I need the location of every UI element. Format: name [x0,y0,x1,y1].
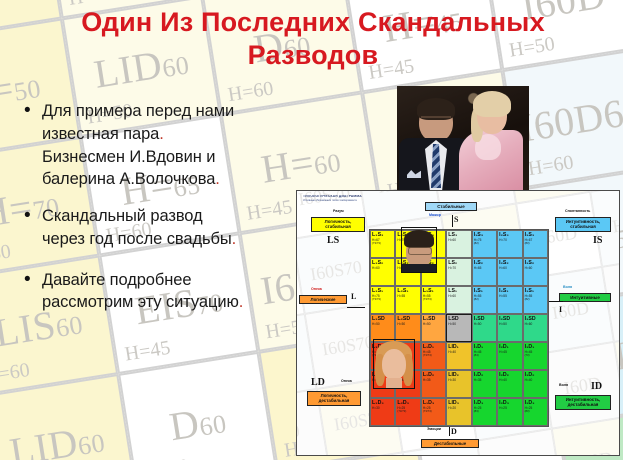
matrix-cell[interactable]: I₂D₂H=40 [497,370,522,398]
matrix-cell-subvalue: (73/73) [423,354,445,357]
list-item: •Для примера перед намиизвестная пара.Би… [24,100,324,191]
axis-label-bottom: Дестабильные [421,439,479,448]
matrix-cell-subvalue: (73/73) [423,410,445,413]
hint-quadrant-LS: Разум [333,209,344,213]
matrix-cell[interactable]: I₃D₂H=40 [523,370,548,398]
quadrant-code-IS: IS [593,235,602,246]
axis-label-right: Интуитивные [559,293,611,302]
matrix-cell[interactable]: I₂D₃H=25 [497,398,522,426]
matrix-cell[interactable]: I₁D₂H=35 [472,370,497,398]
bullet-marker: • [24,205,42,251]
matrix-cell[interactable]: L₂SDH=50 [395,314,420,342]
matrix-cell-value: H=35 [423,378,445,382]
matrix-cell[interactable]: I₂S₃H=70 [497,230,522,258]
matrix-cell-value: H=35 [474,378,496,382]
matrix-cell-value: H=40 [448,350,470,354]
list-item-text: Давайте подробнеерассмотрим эту ситуацию… [42,269,243,315]
matrix-cell[interactable]: I₂S₂H=60 [497,258,522,286]
woman-neck-inset [386,378,402,388]
matrix-cell-value: H=30 [372,406,394,410]
axis-arrow-top [452,215,453,227]
matrix-cell-value: H=30 [448,378,470,382]
matrix-cell-value: H=50 [474,322,496,326]
background-watermark-secondary: H=60 [0,359,32,389]
text-line: через год после свадьбы. [42,228,236,251]
quadrant-tag-IS: Интуитивность, стабильная [555,217,611,232]
matrix-cell[interactable]: L₃SDH=50 [370,314,395,342]
background-watermark: L60S60 [0,0,50,4]
matrix-cell-value: H=50 [372,322,394,326]
matrix-cell-subvalue: (82) [525,298,547,301]
axis-label-top: Стабильные [425,202,477,211]
matrix-cell[interactable]: LSDH=50 [446,314,471,342]
text-line: балерина А.Волочкова. [42,168,234,191]
matrix-cell-value: H=45 [499,350,521,354]
matrix-cell-subvalue: (83) [525,410,547,413]
matrix-cell[interactable]: I₃S₁H=55(82) [523,286,548,314]
text-line: Бизнесмен И.Вдовин и [42,146,234,169]
matrix-cell[interactable]: I₃D₁H=45(73) [523,342,548,370]
matrix-cell[interactable]: LS₂H=70 [446,258,471,286]
hint-top: Мажор [429,213,441,217]
man-portrait-marker [401,227,437,273]
matrix-cell-value: H=55 [499,294,521,298]
quadrant-code-LS: LS [327,235,339,246]
hint-right: Воля [563,285,572,289]
matrix-cell-value: H=60 [448,294,470,298]
list-item: •Скандальный разводчерез год после свадь… [24,205,324,251]
matrix-cell[interactable]: I₂SDH=50 [497,314,522,342]
matrix-cell-subvalue: (84) [474,354,496,357]
matrix-cell-value: H=50 [397,322,419,326]
background-watermark-secondary: H=50 [0,240,13,270]
matrix-cell[interactable]: LS₁H=60 [446,286,471,314]
bullet-marker: • [24,269,42,315]
axis-letter-top: S [454,215,458,224]
page-title: Один Из Последних Скандальных Разводов [28,6,598,72]
quadrant-code-LD: LD [311,377,325,388]
quadrant-code-ID: ID [591,381,602,392]
matrix-cell[interactable]: I₁S₃H=75(82) [472,230,497,258]
matrix-cell-subvalue: (73/73) [372,242,394,245]
bullet-marker: • [24,100,42,191]
axis-letter-bottom: D [451,427,457,436]
matrix-cell[interactable]: LID₃H=20 [446,398,471,426]
matrix-cell-value: H=40 [525,378,547,382]
matrix-cell[interactable]: L₁D₁H=45(73/73) [421,342,446,370]
matrix-cell[interactable]: L₂D₃H=25(73/73) [395,398,420,426]
matrix-cell[interactable]: I₁D₃H=25(83) [472,398,497,426]
matrix-cell-subvalue: (73/73) [397,410,419,413]
matrix-cell-value: H=55 [397,294,419,298]
list-item-text: Скандальный разводчерез год после свадьб… [42,205,236,251]
text-line: рассмотрим эту ситуацию. [42,291,243,314]
bullet-list: •Для примера перед намиизвестная пара.Би… [24,100,324,328]
hint-left: Опека [311,287,322,291]
quadrant-tag-ID: Интуитивность, дестабильная [555,395,611,410]
matrix-cell[interactable]: I₁S₂H=65 [472,258,497,286]
glasses-icon-inset [408,247,432,255]
matrix-cell-subvalue: (82) [474,242,496,245]
matrix-cell[interactable]: L₁SDH=50 [421,314,446,342]
list-item-text: Для примера перед намиизвестная пара.Биз… [42,100,234,191]
background-watermark-secondary: H=45 [123,337,172,367]
matrix-cell-value: H=60 [525,322,547,326]
woman-hair [473,91,511,117]
matrix-cell[interactable]: L₃D₃H=30 [370,398,395,426]
matrix-cell-subvalue: (73/73) [372,298,394,301]
background-watermark: D60 [166,395,229,450]
matrix-cell-value: H=65 [474,266,496,270]
matrix-cell[interactable]: I₂D₁H=45 [497,342,522,370]
matrix-cell[interactable]: LID₂H=30 [446,370,471,398]
matrix-cell[interactable]: L₃S₂H=60 [370,258,395,286]
chart-title: ТИПОЛОГИЧЕСКАЯ ДИАГРАММА [303,195,377,198]
text-line: Для примера перед нами [42,100,234,123]
axis-arrow-left [347,307,365,308]
background-watermark-secondary: H=60 [527,151,576,181]
text-line: Скандальный развод [42,205,236,228]
matrix-cell-subvalue: (83) [474,410,496,413]
matrix-cell-value: H=25 [499,406,521,410]
matrix-cell[interactable]: L₃S₁H=75(73/73) [370,286,395,314]
background-watermark-secondary: H=50 [142,455,191,460]
axis-arrow-right [547,301,563,302]
matrix-cell-subvalue: (82) [474,298,496,301]
matrix-cell-value: H=70 [499,238,521,242]
matrix-cell[interactable]: I₃S₂H=60 [523,258,548,286]
glasses-icon [421,116,451,126]
matrix-cell-value: H=40 [499,378,521,382]
matrix-cell[interactable]: L₂S₁H=55 [395,286,420,314]
hint-quadrant-IS: Спонтанность [565,209,590,213]
background-watermark: LID60 [6,414,107,460]
matrix-cell[interactable]: I₁SDH=50 [472,314,497,342]
quadrant-tag-LS: Логичность, стабильная [311,217,365,232]
matrix-cell-value: H=60 [525,266,547,270]
woman-portrait-marker [373,339,415,389]
typology-grid: L₃S₃H=67(73/73)L₂S₃H=70L₁S₃H=67LS₃H=60I₁… [369,229,549,427]
quadrant-tag-LD: Логичность, дестабильная [307,391,361,406]
matrix-cell-value: H=60 [372,266,394,270]
man-hair-inset [404,230,434,248]
matrix-cell-value: H=20 [448,406,470,410]
matrix-cell-value: H=50 [423,322,445,326]
man-shoulders-inset [402,264,436,273]
text-line: известная пара. [42,123,234,146]
chart-bg-cell: I60D [539,342,620,429]
matrix-cell[interactable]: L₁D₂H=35 [421,370,446,398]
background-watermark: I60D60 [517,85,623,151]
matrix-cell[interactable]: I₃SDH=60 [523,314,548,342]
axis-letter-left: L [351,292,356,301]
matrix-cell[interactable]: I₁D₁H=45(84) [472,342,497,370]
hint-bottom-center: Эмоции [427,427,441,431]
chart-legend-note: Условные обозначения типов темперамента [303,199,357,202]
matrix-cell[interactable]: I₃S₃H=67(83) [523,230,548,258]
text-line: Давайте подробнее [42,269,243,292]
couple-photo [397,86,529,190]
matrix-cell[interactable]: L₁D₃H=25(73/73) [421,398,446,426]
matrix-cell-value: H=50 [448,322,470,326]
matrix-cell-subvalue: (83) [525,242,547,245]
list-item: •Давайте подробнеерассмотрим эту ситуаци… [24,269,324,315]
hint-quadrant-ID: Воля [559,383,568,387]
matrix-cell-value: H=50 [499,322,521,326]
matrix-cell[interactable]: L₃S₃H=67(73/73) [370,230,395,258]
matrix-cell[interactable]: I₂S₁H=55 [497,286,522,314]
hint-quadrant-LD: Опека [341,379,352,383]
axis-label-left: Логические [299,295,347,304]
matrix-cell-subvalue: (73/73) [423,298,445,301]
typology-chart: S60I60S70H=50LISDI60DH=70S60I60S70H=50LI… [296,190,620,456]
slide-canvas: S60H=50L60S60H=60LIS60H=45EIS70H=50I60S7… [0,0,623,460]
matrix-cell[interactable]: L₁S₁H=55(73/73) [421,286,446,314]
woman-face-inset [382,349,406,380]
matrix-cell[interactable]: LS₃H=60 [446,230,471,258]
matrix-cell-subvalue: (73) [525,354,547,357]
matrix-cell-value: H=70 [448,266,470,270]
matrix-cell-value: H=60 [499,266,521,270]
matrix-cell[interactable]: I₁S₁H=55(82) [472,286,497,314]
matrix-cell-value: H=60 [448,238,470,242]
axis-letter-right: I [559,305,562,314]
matrix-cell[interactable]: LID₁H=40 [446,342,471,370]
matrix-cell[interactable]: I₃D₃H=25(83) [523,398,548,426]
